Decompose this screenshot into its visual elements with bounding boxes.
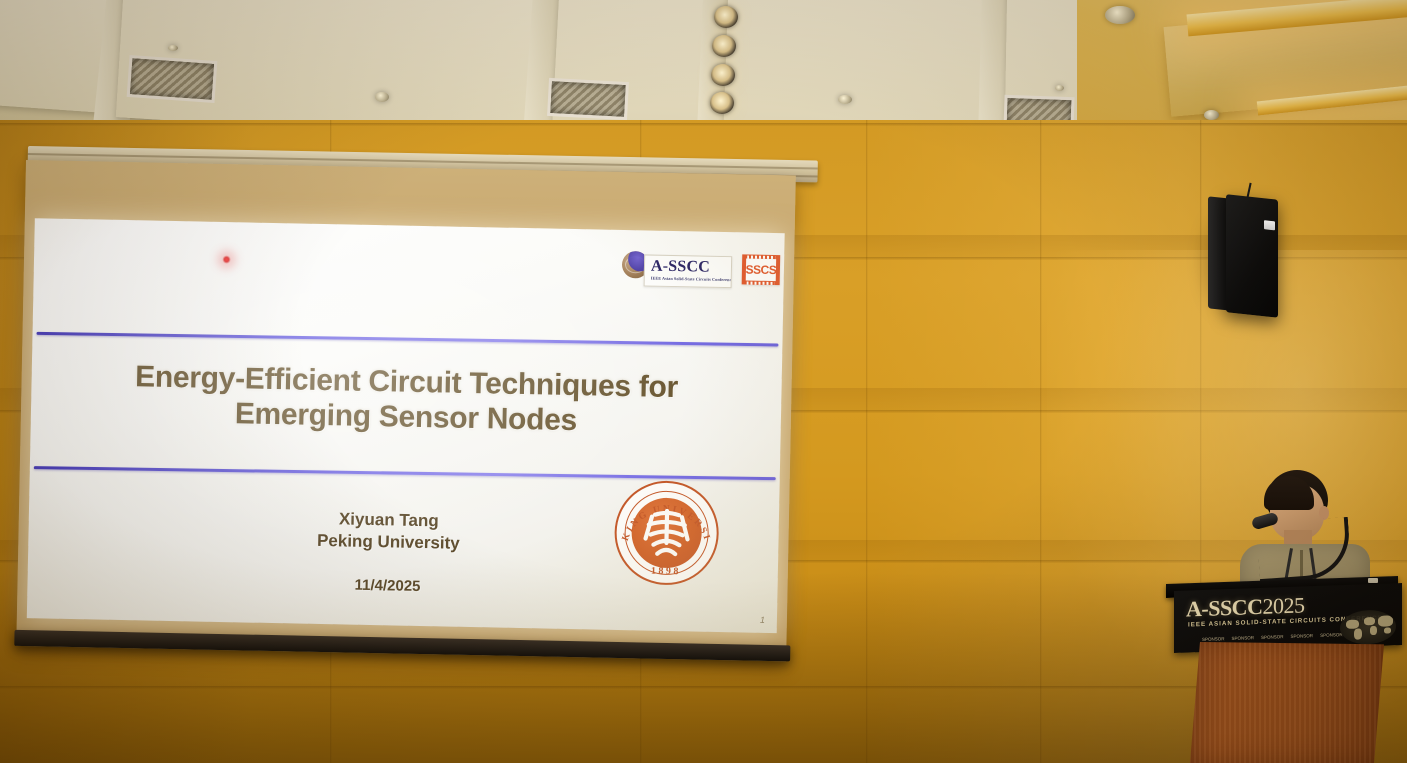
- a-sscc-logo: A-SSCC IEEE Asian Solid-State Circuits C…: [622, 250, 733, 292]
- a-sscc-logo-text: A-SSCC: [651, 258, 710, 277]
- slide-title: Energy-Efficient Circuit Techniques for …: [71, 359, 742, 442]
- slide-divider-top: [37, 332, 779, 347]
- jbl-logo-badge: [1264, 220, 1275, 230]
- ceiling-vent: [547, 78, 629, 120]
- downlight: [1204, 110, 1219, 120]
- ceiling-spotlight: [711, 64, 735, 86]
- sponsor-logo: SPONSOR: [1320, 632, 1343, 638]
- downlight: [838, 95, 852, 104]
- sponsor-logo: SPONSOR: [1202, 636, 1225, 642]
- slide-page-number: 1: [760, 615, 765, 625]
- sponsor-logo: SPONSOR: [1261, 634, 1284, 640]
- downlight: [1105, 6, 1135, 24]
- world-map-graphic: [1340, 609, 1396, 645]
- presenter-block: Xiyuan Tang Peking University: [238, 506, 539, 557]
- ceiling-spotlight: [710, 92, 734, 114]
- presenter-affiliation: Peking University: [238, 529, 538, 557]
- slide-divider-bottom: [34, 466, 776, 480]
- ceiling-vent: [127, 55, 218, 103]
- sponsor-logo: SPONSOR: [1232, 635, 1255, 641]
- conference-room-photo: A-SSCC IEEE Asian Solid-State Circuits C…: [0, 0, 1407, 763]
- seal-year: 1898: [614, 565, 718, 578]
- downlight: [168, 45, 178, 51]
- ceiling-spotlight: [712, 35, 736, 57]
- laser-pointer-dot: [222, 255, 231, 264]
- projection-screen: A-SSCC IEEE Asian Solid-State Circuits C…: [16, 160, 796, 665]
- banner-sponsor-row: SPONSOR SPONSOR SPONSOR SPONSOR SPONSOR: [1202, 629, 1332, 644]
- ceiling-spotlight: [714, 6, 738, 28]
- a-sscc-logo-subtitle: IEEE Asian Solid-State Circuits Conferen…: [651, 276, 731, 283]
- presentation-slide: A-SSCC IEEE Asian Solid-State Circuits C…: [27, 218, 785, 633]
- wall-mounted-speaker: [1208, 192, 1278, 319]
- sscs-logo: SSCS: [742, 254, 781, 285]
- lectern-podium: A-SSCC2025 IEEE ASIAN SOLID-STATE CIRCUI…: [1166, 580, 1406, 763]
- sscs-logo-text: SSCS: [746, 258, 776, 281]
- sponsor-logo: SPONSOR: [1291, 633, 1314, 639]
- downlight: [375, 92, 389, 102]
- banner-title-year: 2025: [1262, 592, 1304, 618]
- downlight: [1055, 85, 1064, 91]
- peking-university-seal: PEKING UNIVERSITY 1898: [614, 480, 720, 586]
- slide-date: 11/4/2025: [237, 574, 537, 597]
- banner-title-main: A-SSCC: [1186, 594, 1262, 622]
